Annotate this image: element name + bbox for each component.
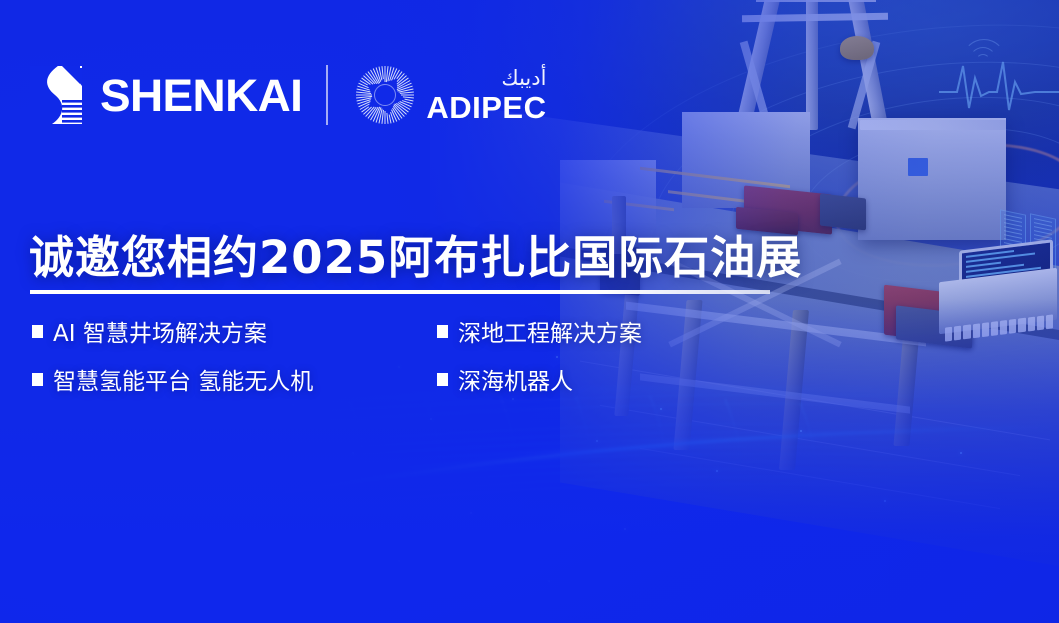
- bullet-square-icon: [437, 325, 448, 338]
- adipec-sunburst-mark: [354, 64, 416, 126]
- feature-list: AI 智慧井场解决方案 深地工程解决方案 智慧氢能平台 氢能无人机 深海机器人: [32, 314, 642, 396]
- bullet-square-icon: [32, 325, 43, 338]
- feature-label: 深地工程解决方案: [458, 314, 642, 348]
- bullet-square-icon: [437, 373, 448, 386]
- feature-label: 智慧氢能平台 氢能无人机: [53, 362, 313, 396]
- headline-divider: [30, 290, 770, 294]
- feature-item-3: 智慧氢能平台 氢能无人机: [32, 362, 437, 396]
- adipec-logo[interactable]: أديبك ADIPEC: [354, 64, 546, 126]
- adipec-text-block: أديبك ADIPEC: [426, 68, 546, 123]
- feature-item-1: AI 智慧井场解决方案: [32, 314, 437, 348]
- bullet-square-icon: [32, 373, 43, 386]
- headline-title: 诚邀您相约2025阿布扎比国际石油展: [29, 221, 802, 286]
- shenkai-logo-mark: [28, 64, 84, 126]
- shenkai-logo[interactable]: SHENKAI: [28, 64, 300, 126]
- adipec-arabic-name: أديبك: [426, 68, 546, 89]
- shenkai-wordmark: SHENKAI: [100, 73, 302, 118]
- feature-label: 深海机器人: [458, 362, 573, 396]
- banner-content: SHENKAI: [0, 0, 1059, 623]
- feature-item-2: 深地工程解决方案: [437, 314, 642, 348]
- feature-item-4: 深海机器人: [437, 362, 642, 396]
- logo-separator: [326, 65, 328, 125]
- logo-lockup-row: SHENKAI: [28, 64, 546, 126]
- adipec-latin-name: ADIPEC: [426, 92, 546, 123]
- feature-label: AI 智慧井场解决方案: [53, 314, 267, 348]
- promo-banner: SHENKAI: [0, 0, 1059, 623]
